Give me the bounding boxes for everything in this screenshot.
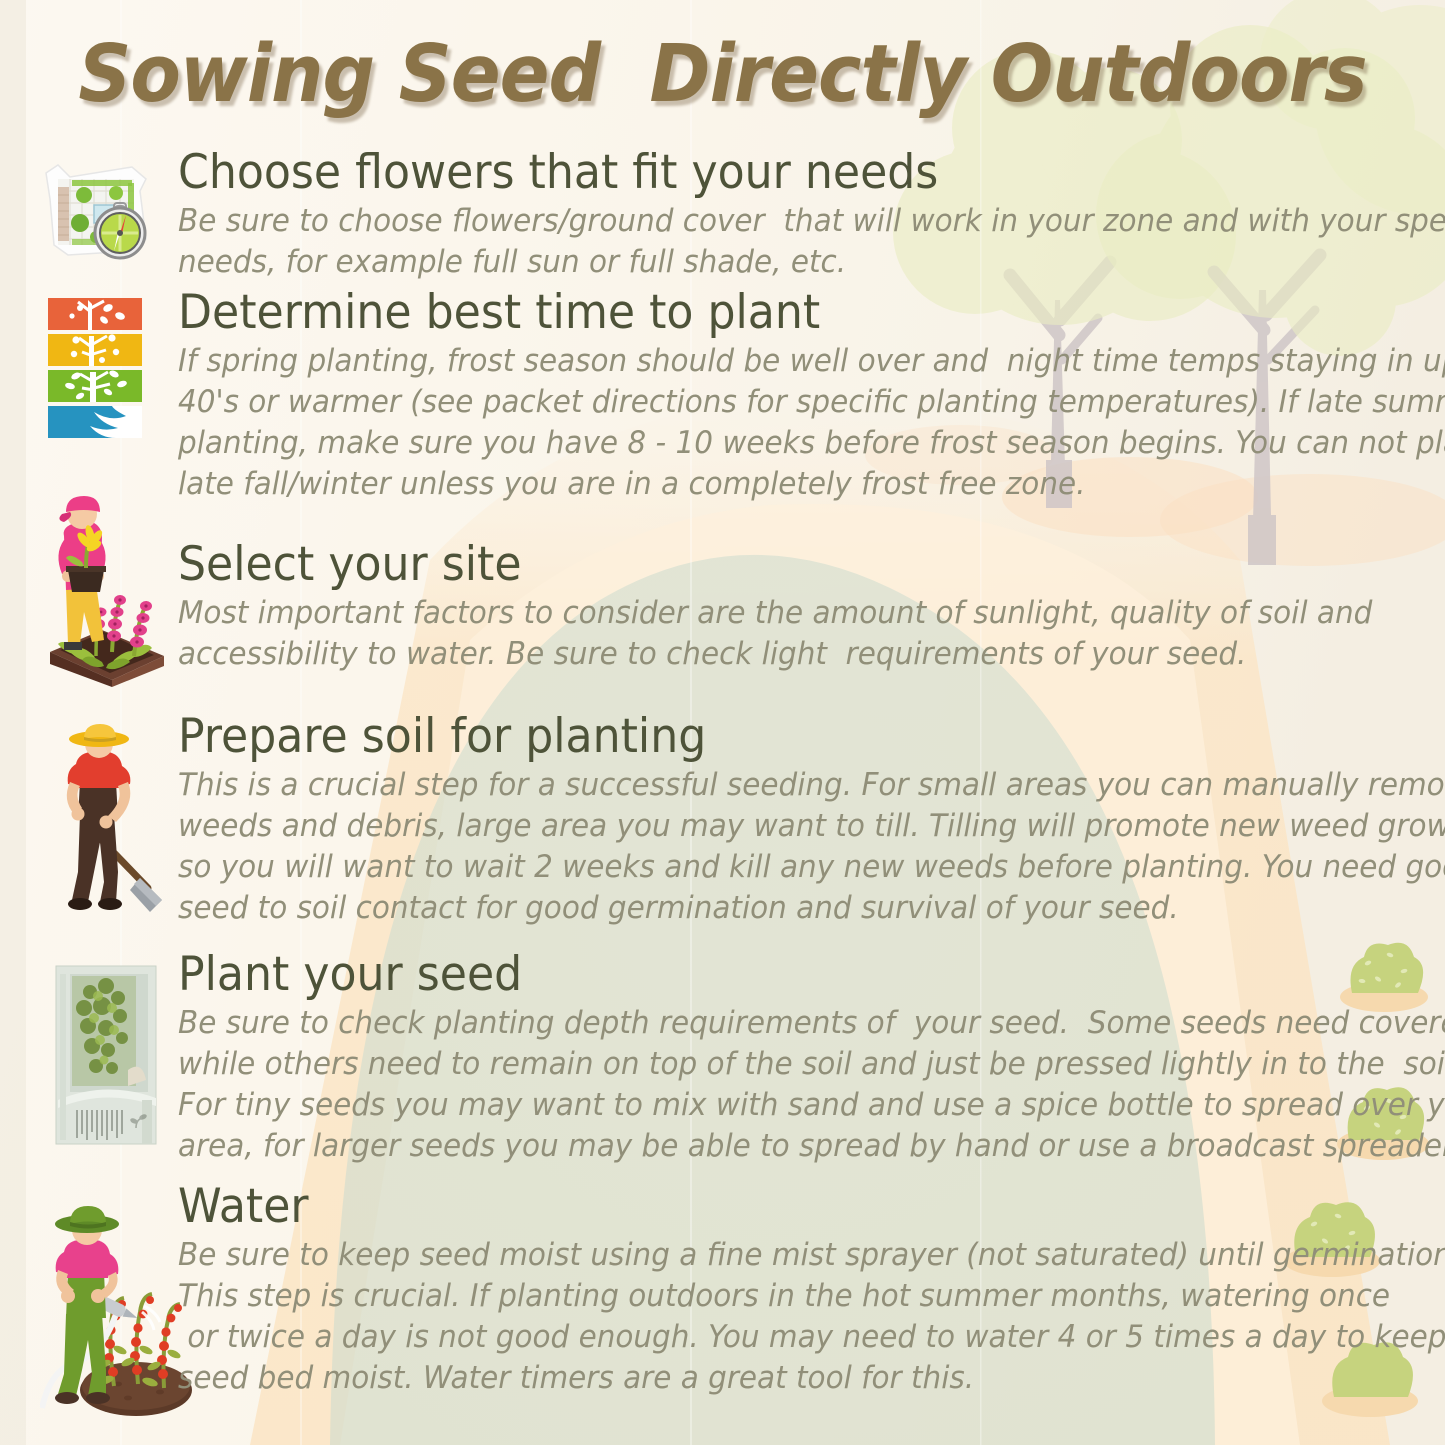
seed-packet-icon: [50, 960, 165, 1150]
four-seasons-icon: [46, 296, 144, 446]
step-heading: Determine best time to plant: [178, 288, 1362, 337]
infographic-poster: Sowing Seed Directly Outdoors: [0, 0, 1445, 1445]
step-paragraph: Be sure to choose flowers/ground cover t…: [178, 201, 1347, 283]
step-paragraph: If spring planting, frost season should …: [178, 341, 1356, 505]
step-heading: Water: [178, 1182, 1362, 1231]
step-paragraph: Most important factors to consider are t…: [178, 593, 1347, 675]
gardener-digging-soil-icon: [44, 722, 174, 917]
gardener-planting-flowers-icon: [38, 492, 178, 687]
garden-plan-compass-icon: [28, 143, 160, 275]
step-paragraph: Be sure to keep seed moist using a fine …: [178, 1235, 1356, 1399]
step-heading: Plant your seed: [178, 950, 1353, 999]
step-paragraph: This is a crucial step for a successful …: [178, 765, 1347, 929]
page-title: Sowing Seed Directly Outdoors: [51, 28, 1395, 120]
step-heading: Choose flowers that fit your needs: [178, 148, 1353, 197]
step-paragraph: Be sure to check planting depth requirem…: [178, 1003, 1347, 1167]
step-heading: Select your site: [178, 540, 1353, 589]
step-heading: Prepare soil for planting: [178, 712, 1353, 761]
